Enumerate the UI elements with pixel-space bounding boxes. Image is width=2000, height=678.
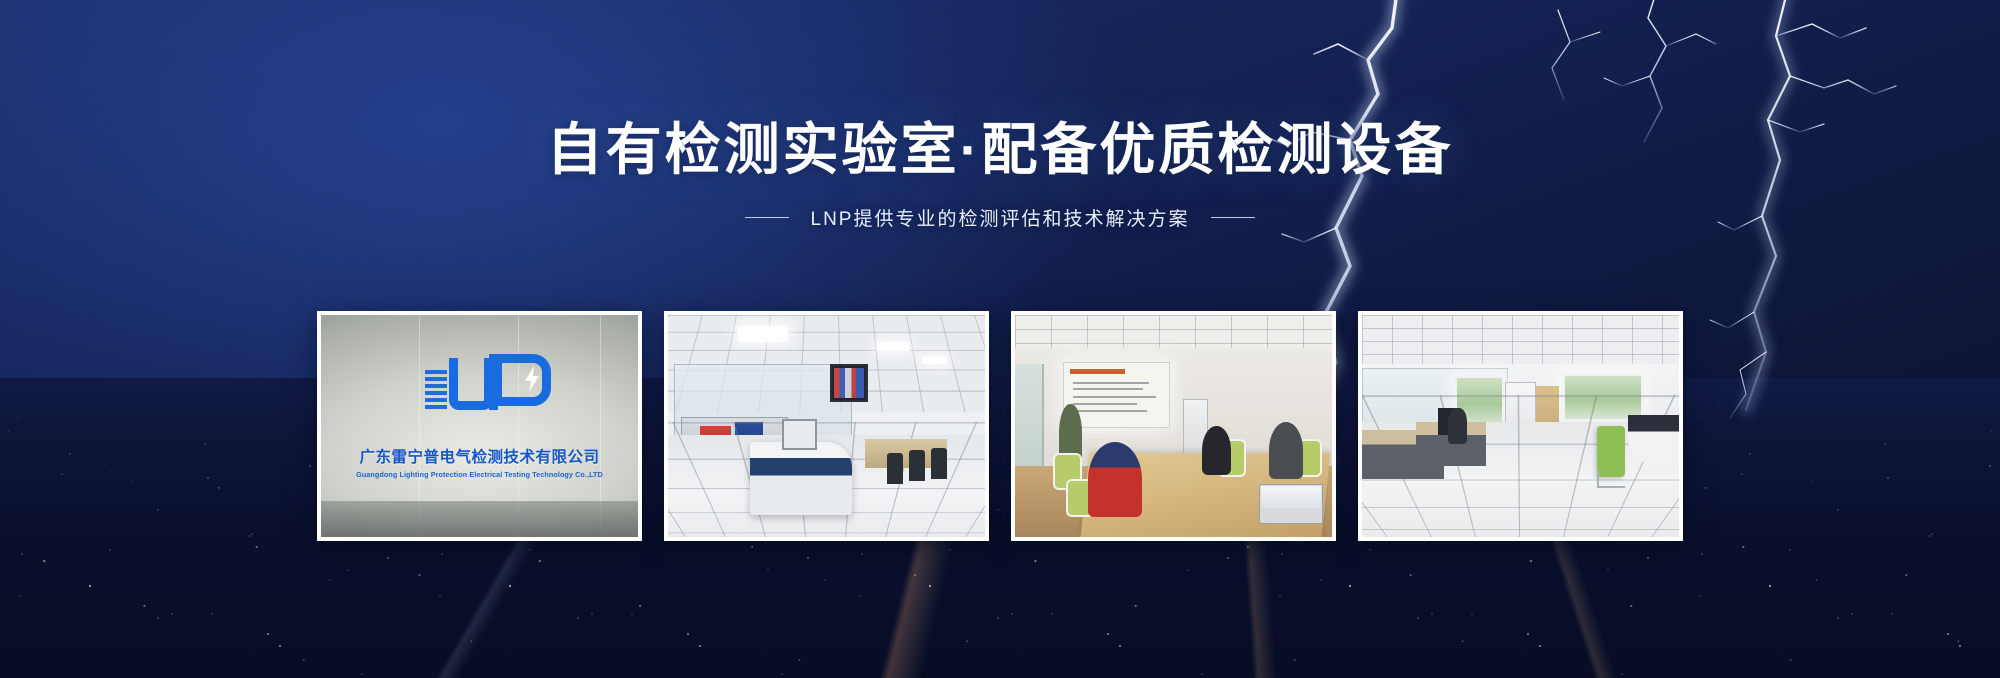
ceiling-grid	[1015, 315, 1332, 351]
headline-zone: 自有检测实验室·配备优质检测设备 LNP提供专业的检测评估和技术解决方案	[0, 118, 2000, 231]
hero-banner: 自有检测实验室·配备优质检测设备 LNP提供专业的检测评估和技术解决方案	[0, 0, 2000, 678]
ceiling-grid	[1362, 315, 1679, 368]
wall-mounted-monitor	[830, 364, 868, 402]
laptop	[1259, 484, 1322, 524]
company-name-en: Guangdong Lighting Protection Electrical…	[356, 470, 603, 479]
wall-floor-shadow	[321, 501, 638, 537]
visitor-chair	[1597, 426, 1626, 477]
ceiling-light	[877, 342, 909, 351]
slide-text-line	[1073, 396, 1155, 398]
office-chair	[931, 448, 947, 479]
lnp-u-shape	[449, 358, 493, 410]
reception-desk	[1628, 415, 1679, 464]
meeting-training-room-photo	[1015, 315, 1332, 537]
seated-person	[1088, 442, 1142, 517]
subtitle-row: LNP提供专业的检测评估和技术解决方案	[0, 204, 2000, 231]
console-monitor	[782, 419, 817, 450]
rule-left-icon	[745, 217, 789, 218]
seated-person	[1202, 426, 1231, 475]
seated-person	[1269, 422, 1304, 480]
ceiling-light	[738, 326, 789, 342]
gallery-item-logo-wall[interactable]: 广东雷宁普电气检测技术有限公司 Guangdong Lighting Prote…	[317, 311, 642, 541]
lnp-logo-mark	[425, 354, 535, 410]
slide-text-line	[1073, 388, 1143, 390]
glass-door	[1015, 364, 1044, 479]
office-chair	[887, 453, 903, 484]
slide-text-line	[1073, 403, 1136, 405]
page-subtitle: LNP提供专业的检测评估和技术解决方案	[811, 204, 1190, 231]
page-title: 自有检测实验室·配备优质检测设备	[0, 118, 2000, 182]
testing-laboratory-photo	[668, 315, 985, 537]
slide-text-line	[1073, 382, 1149, 384]
gallery-item-meeting-room[interactable]	[1011, 311, 1336, 541]
control-console	[750, 442, 851, 515]
office-chair	[909, 450, 925, 481]
lnp-letters-icon	[449, 354, 535, 410]
company-name-cn: 广东雷宁普电气检测技术有限公司	[359, 445, 599, 467]
company-logo-wall-photo: 广东雷宁普电气检测技术有限公司 Guangdong Lighting Prote…	[321, 315, 638, 537]
lnp-bars-icon	[425, 370, 447, 410]
ceiling-light	[922, 357, 947, 364]
slide-text-line	[1073, 410, 1147, 412]
seated-worker	[1448, 408, 1467, 444]
rule-right-icon	[1211, 217, 1255, 218]
slide-title-bar	[1070, 369, 1125, 374]
chair-frame	[1597, 470, 1626, 488]
gallery-item-testing-lab[interactable]	[664, 311, 989, 541]
monitor-screen	[834, 368, 864, 398]
gallery-item-office[interactable]	[1358, 311, 1683, 541]
office-area-photo	[1362, 315, 1679, 537]
laptop-screen	[1261, 486, 1320, 509]
photo-gallery: 广东雷宁普电气检测技术有限公司 Guangdong Lighting Prote…	[317, 311, 1683, 541]
